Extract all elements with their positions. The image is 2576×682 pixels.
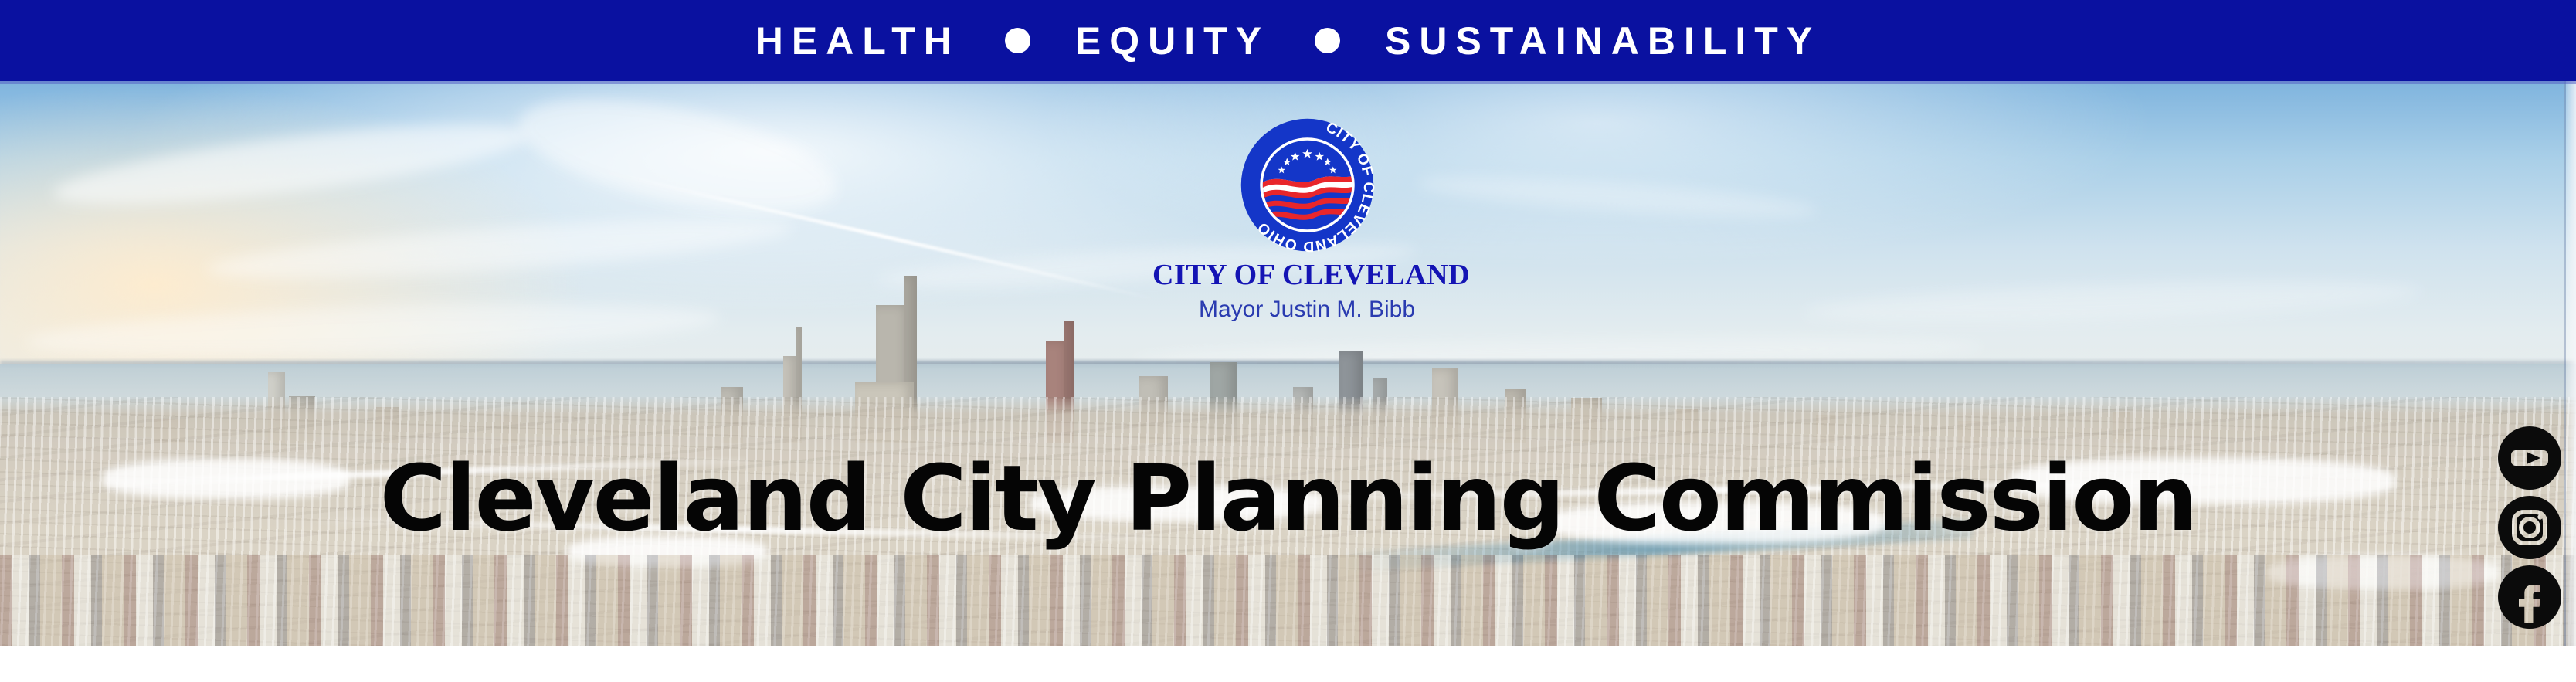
tagline-word-sustainability: SUSTAINABILITY bbox=[1385, 22, 1821, 60]
mayor-name: Mayor Justin M. Bibb bbox=[1152, 298, 1461, 321]
dot-separator-icon bbox=[1315, 28, 1340, 53]
tagline-inner: HEALTH EQUITY SUSTAINABILITY bbox=[755, 22, 1821, 60]
dot-separator-icon bbox=[1005, 28, 1030, 53]
tagline-word-equity: EQUITY bbox=[1075, 22, 1270, 60]
city-of-cleveland-seal-icon: CITY OF CLEVELAND OHIO bbox=[1240, 117, 1375, 253]
city-branding-lockup[interactable]: CITY OF CLEVELAND OHIO bbox=[1152, 117, 1461, 321]
page-title: Cleveland City Planning Commission bbox=[0, 453, 2576, 544]
instagram-icon[interactable] bbox=[2497, 495, 2562, 560]
social-links-rail bbox=[2497, 426, 2562, 629]
neighborhood-rooftops bbox=[0, 555, 2576, 646]
tagline-word-health: HEALTH bbox=[755, 22, 960, 60]
banner-underline bbox=[0, 81, 2576, 84]
youtube-icon[interactable] bbox=[2497, 426, 2562, 490]
org-name: CITY OF CLEVELAND bbox=[1152, 260, 1461, 290]
page-root: HEALTH EQUITY SUSTAINABILITY bbox=[0, 0, 2576, 682]
facebook-icon[interactable] bbox=[2497, 565, 2562, 629]
page-bottom-whitespace bbox=[0, 646, 2576, 682]
page-edge-divider bbox=[2564, 81, 2566, 646]
hero-banner-image: CITY OF CLEVELAND OHIO bbox=[0, 81, 2576, 646]
tagline-banner: HEALTH EQUITY SUSTAINABILITY bbox=[0, 0, 2576, 81]
page-right-edge bbox=[2566, 81, 2576, 646]
